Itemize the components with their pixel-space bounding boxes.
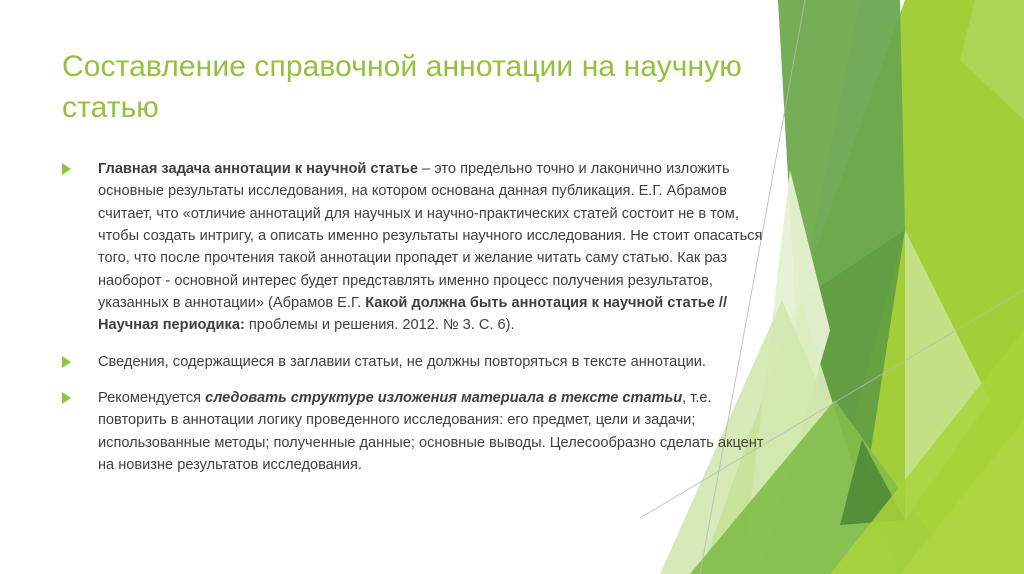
text-run: – это предельно точно и лаконично изложи…	[98, 161, 762, 311]
list-item: Главная задача аннотации к научной стать…	[58, 158, 773, 337]
page-title: Составление справочной аннотации на науч…	[62, 46, 762, 129]
decor-shape-light-bottom-right	[900, 420, 1024, 574]
triangle-right-icon	[62, 356, 71, 368]
decor-shape-pale-right-top	[960, 0, 1024, 120]
slide-canvas: Составление справочной аннотации на науч…	[0, 0, 1024, 574]
decor-shape-dark-accent-v	[840, 440, 905, 525]
decor-shape-dark-top-left	[778, 0, 860, 300]
decor-shape-bright-band	[760, 0, 1024, 574]
decor-shape-dark-sliver-top	[778, 0, 905, 470]
triangle-right-icon	[62, 163, 71, 175]
list-item-text: Главная задача аннотации к научной стать…	[98, 158, 773, 337]
decor-shape-medium-v	[800, 230, 905, 520]
list-item: Рекомендуется следовать структуре изложе…	[58, 387, 773, 476]
decor-shape-lime-bottom	[830, 330, 1024, 574]
text-run: Рекомендуется	[98, 390, 205, 406]
text-run: проблемы и решения. 2012. № 3. С. 6).	[245, 317, 515, 333]
text-run: Сведения, содержащиеся в заглавии статьи…	[98, 354, 706, 370]
list-item: Сведения, содержащиеся в заглавии статьи…	[58, 351, 773, 373]
list-item-text: Сведения, содержащиеся в заглавии статьи…	[98, 351, 773, 373]
bullet-list: Главная задача аннотации к научной стать…	[58, 158, 773, 490]
list-item-text: Рекомендуется следовать структуре изложе…	[98, 387, 773, 476]
text-run: Главная задача аннотации к научной стать…	[98, 161, 418, 177]
text-run: следовать структуре изложения материала …	[205, 390, 682, 406]
triangle-right-icon	[62, 392, 71, 404]
decor-shape-pale-right-highlight	[905, 230, 990, 520]
